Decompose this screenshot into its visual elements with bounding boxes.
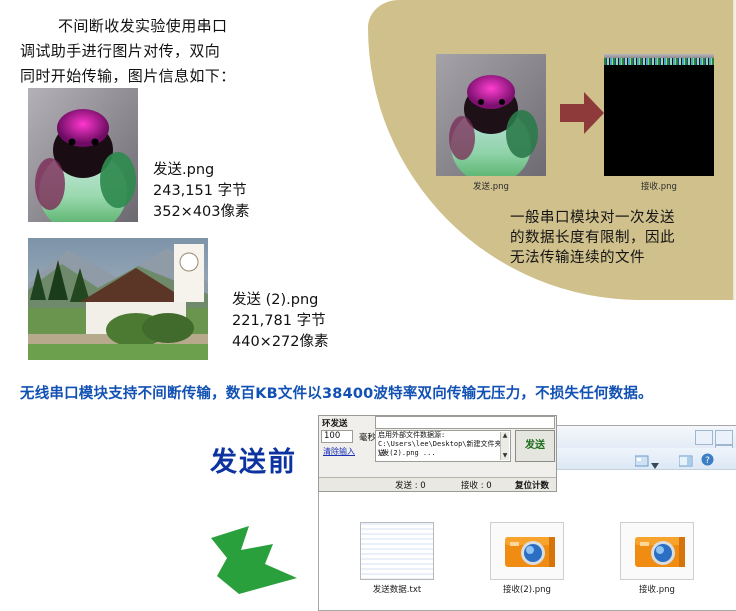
file-2-name: 发送 (2).png xyxy=(232,290,329,311)
memo-line-1: 启用外部文件数据源: xyxy=(378,431,445,440)
text-file-icon xyxy=(360,522,434,580)
help-icon[interactable]: ? xyxy=(701,451,715,463)
clear-input-link[interactable]: 清除输入 xyxy=(323,446,355,457)
explorer-item-2-label: 接收.png xyxy=(597,583,717,595)
camera-icon xyxy=(633,531,689,571)
file-thumbnail-2 xyxy=(28,238,208,360)
view-mode-icon[interactable] xyxy=(635,452,649,464)
before-send-label: 发送前 xyxy=(210,440,297,479)
lead-line-2: 调试助手进行图片对传，双向 xyxy=(20,42,220,60)
explorer-item-0[interactable]: 发送数据.txt xyxy=(337,522,457,595)
svg-text:?: ? xyxy=(705,456,710,466)
memo-line-3: 送 (2).png ... xyxy=(378,449,436,458)
status-bar: 发送 : 0 接收 : 0 复位计数 xyxy=(319,477,556,491)
panel-note: 一般串口模块对一次发送 的数据长度有限制，因此 无法传输连续的文件 xyxy=(510,208,728,268)
panel-note-line1: 一般串口模块对一次发送 xyxy=(510,208,728,228)
panel-recv-thumbnail xyxy=(604,54,714,176)
explorer-item-1[interactable]: 接收(2).png xyxy=(467,522,587,595)
send-button[interactable]: 发送 xyxy=(515,430,555,462)
loop-send-label: 环发送 xyxy=(322,417,348,429)
lead-paragraph: 不间断收发实验使用串口 调试助手进行图片对传，双向 同时开始传输，图片信息如下： xyxy=(20,14,350,89)
panel-send-thumbnail xyxy=(436,54,546,176)
scroll-up-icon[interactable]: ▲ xyxy=(502,433,508,439)
png-file-tile-2 xyxy=(620,522,694,580)
explorer-item-0-label: 发送数据.txt xyxy=(337,583,457,595)
close-button[interactable] xyxy=(715,430,733,445)
file-1-size: 243,151 字节 xyxy=(153,181,250,202)
file-1-name: 发送.png xyxy=(153,160,250,181)
panel-recv-caption: 接收.png xyxy=(599,180,719,192)
memo-box[interactable]: 启用外部文件数据源: C:\Users\lee\Desktop\新建文件夹\发 … xyxy=(375,430,511,462)
interval-unit: 毫秒 xyxy=(359,431,376,443)
slide-canvas: 发送.png 接收.png 一般串口模块对一次发送 的数据长度有限制，因此 无法… xyxy=(0,0,736,609)
png-file-tile-1 xyxy=(490,522,564,580)
explorer-item-2[interactable]: 接收.png xyxy=(597,522,717,595)
file-1-dimensions: 352×403像素 xyxy=(153,202,250,223)
transfer-arrow-icon xyxy=(558,88,606,138)
reset-counter-button[interactable]: 复位计数 xyxy=(515,479,549,491)
recv-thumbnail-noise xyxy=(604,58,714,65)
file-info-2: 发送 (2).png 221,781 字节 440×272像素 xyxy=(232,290,329,353)
panel-note-line2: 的数据长度有限制，因此 xyxy=(510,228,728,248)
send-data-field[interactable] xyxy=(375,416,555,429)
panel-note-line3: 无法传输连续的文件 xyxy=(510,248,728,268)
maximize-button[interactable] xyxy=(695,430,713,445)
file-2-size: 221,781 字节 xyxy=(232,311,329,332)
file-info-1: 发送.png 243,151 字节 352×403像素 xyxy=(153,160,250,223)
lead-line-1: 不间断收发实验使用串口 xyxy=(20,14,350,39)
window-controls[interactable] xyxy=(677,430,733,444)
lead-line-3: 同时开始传输，图片信息如下： xyxy=(20,67,236,85)
preview-pane-icon[interactable] xyxy=(679,452,693,464)
highlight-banner: 无线串口模块支持不间断传输，数百KB文件以38400波特率双向传输无压力，不损失… xyxy=(20,382,720,403)
file-thumbnail-1 xyxy=(28,88,138,222)
serial-tool-window[interactable]: 环发送 100 毫秒 清除输入 启用外部文件数据源: C:\Users\lee\… xyxy=(318,415,557,492)
file-2-dimensions: 440×272像素 xyxy=(232,332,329,353)
memo-scrollbar[interactable]: ▲ ▼ xyxy=(500,432,509,460)
green-arrow-icon xyxy=(205,520,310,600)
camera-icon xyxy=(503,531,559,571)
scroll-down-icon[interactable]: ▼ xyxy=(502,453,508,459)
interval-value: 100 xyxy=(324,431,340,441)
sent-counter: 发送 : 0 xyxy=(395,479,426,491)
explorer-item-1-label: 接收(2).png xyxy=(467,583,587,595)
recv-counter: 接收 : 0 xyxy=(461,479,492,491)
chevron-down-icon[interactable] xyxy=(651,454,665,466)
panel-send-caption: 发送.png xyxy=(431,180,551,192)
